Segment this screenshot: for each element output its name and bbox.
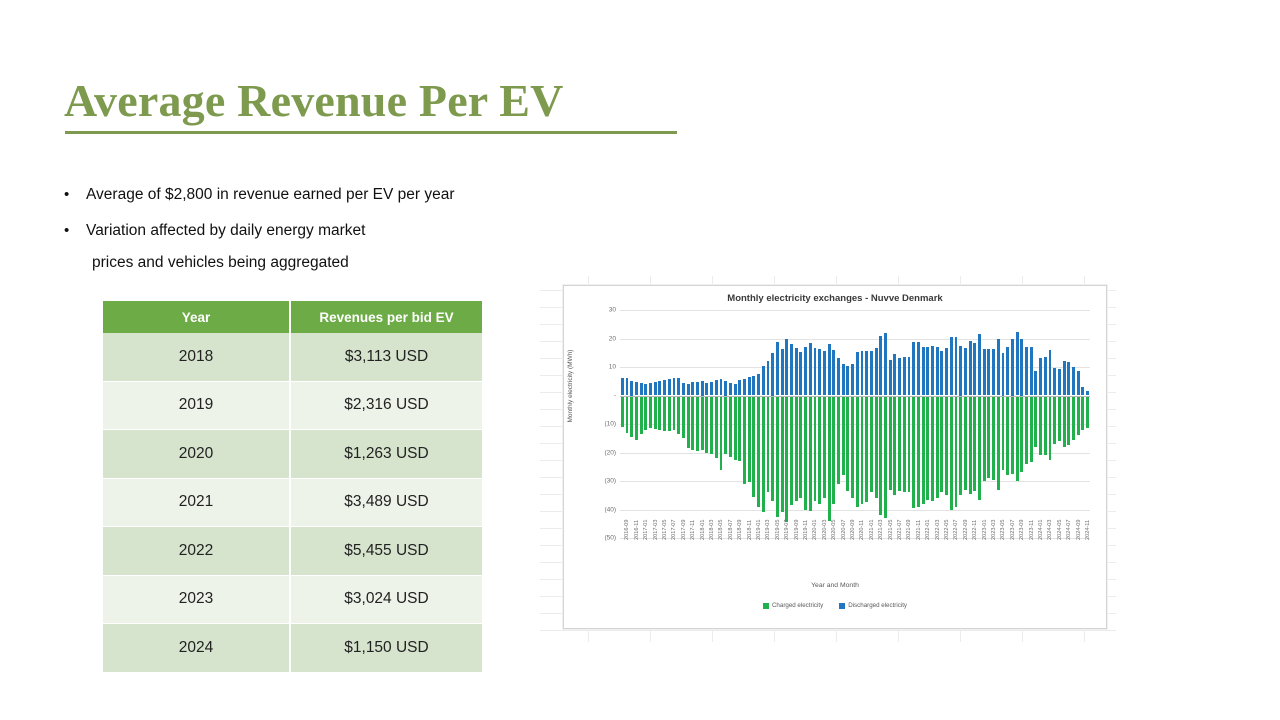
x-axis-tick-label: 2022-05: [944, 519, 950, 540]
bar-charged: [950, 396, 953, 510]
bar-charged: [729, 396, 732, 457]
bar-discharged: [785, 339, 788, 395]
legend-label: Charged electricity: [772, 602, 823, 609]
bar-charged: [861, 396, 864, 504]
bar-discharged: [1053, 368, 1056, 396]
x-axis-tick-label: 2020-03: [822, 519, 828, 540]
bar-charged: [696, 396, 699, 452]
x-axis-tick-label: 2023-07: [1010, 519, 1016, 540]
bar-discharged: [762, 366, 765, 395]
bar-discharged: [997, 339, 1000, 395]
chart-legend: Charged electricity Discharged electrici…: [564, 602, 1106, 609]
bar-discharged: [945, 348, 948, 395]
bar-charged: [926, 396, 929, 500]
bullet-dot-icon: •: [64, 220, 86, 242]
x-axis-tick-label: 2019-11: [803, 520, 809, 540]
x-axis-tick-label: 2023-01: [982, 519, 988, 540]
x-axis-tick-label: 2018-07: [728, 519, 734, 540]
bar-charged: [818, 396, 821, 504]
bar-charged: [917, 396, 920, 507]
bar-series-container: [620, 310, 1090, 538]
bar-charged: [959, 396, 962, 496]
bar-charged: [893, 396, 896, 496]
cell-revenue: $2,316 USD: [290, 381, 482, 430]
bar-discharged: [917, 342, 920, 396]
bar-charged: [978, 396, 981, 500]
bar-discharged: [950, 337, 953, 396]
table-row: 2024$1,150 USD: [103, 624, 482, 673]
bar-discharged: [1067, 362, 1070, 396]
bar-charged: [969, 396, 972, 494]
x-axis-tick-label: 2021-07: [897, 519, 903, 540]
x-axis-tick-label: 2018-11: [747, 520, 753, 540]
bar-charged: [908, 396, 911, 493]
bar-discharged: [922, 347, 925, 396]
bar-charged: [654, 396, 657, 430]
x-axis-tick-label: 2021-05: [888, 519, 894, 540]
bar-discharged: [828, 344, 831, 396]
bar-discharged: [814, 348, 817, 395]
plot-area: 302010-(10)(20)(30)(40)(50): [620, 310, 1090, 538]
bar-discharged: [691, 382, 694, 395]
x-axis-tick-label: 2019-03: [765, 519, 771, 540]
bar-charged: [1002, 396, 1005, 470]
bar-charged: [621, 396, 624, 427]
bar-charged: [846, 396, 849, 491]
bar-charged: [687, 396, 690, 449]
bar-charged: [856, 396, 859, 507]
x-axis-tick-label: 2020-07: [841, 519, 847, 540]
bar-charged: [1020, 396, 1023, 473]
bar-charged: [1053, 396, 1056, 444]
bar-charged: [992, 396, 995, 480]
bar-charged: [1016, 396, 1019, 482]
bar-discharged: [776, 342, 779, 396]
bullet-text: Variation affected by daily energy marke…: [86, 220, 365, 242]
x-axis-tick-label: 2017-01: [643, 519, 649, 540]
bar-charged: [973, 396, 976, 491]
bar-charged: [701, 396, 704, 450]
y-axis-tick-label: -: [614, 392, 616, 399]
bar-group: [1085, 310, 1090, 538]
bar-discharged: [926, 347, 929, 395]
x-axis-tick-label: 2024-09: [1076, 519, 1082, 540]
bar-discharged: [781, 349, 784, 396]
cell-year: 2023: [103, 575, 290, 624]
bar-charged: [931, 396, 934, 501]
x-axis-tick-label: 2019-07: [784, 519, 790, 540]
x-axis-tick-label: 2020-09: [850, 519, 856, 540]
x-axis-tick-label: 2024-03: [1047, 519, 1053, 540]
bar-charged: [1067, 396, 1070, 446]
bar-charged: [757, 396, 760, 507]
bar-charged: [767, 396, 770, 493]
grid-line: [540, 630, 1116, 631]
x-axis-tick-label: 2018-05: [718, 519, 724, 540]
bar-discharged: [964, 348, 967, 395]
bar-charged: [870, 396, 873, 493]
bar-discharged: [870, 351, 873, 395]
bar-discharged: [696, 382, 699, 395]
bar-discharged: [969, 341, 972, 395]
chart-title: Monthly electricity exchanges - Nuvve De…: [564, 293, 1106, 304]
x-axis-tick-label: 2022-01: [925, 519, 931, 540]
x-axis-tick-label: 2022-11: [972, 520, 978, 540]
x-axis-tick-label: 2021-03: [878, 519, 884, 540]
bar-charged: [1058, 396, 1061, 442]
x-axis-tick-label: 2021-09: [906, 519, 912, 540]
bar-charged: [809, 396, 812, 511]
cell-revenue: $3,113 USD: [290, 333, 482, 381]
bar-discharged: [978, 334, 981, 395]
bar-charged: [668, 396, 671, 432]
bar-discharged: [1063, 361, 1066, 396]
table-row: 2018$3,113 USD: [103, 333, 482, 381]
bar-discharged: [936, 347, 939, 395]
bar-discharged: [799, 352, 802, 395]
y-axis-tick-label: (30): [604, 478, 616, 485]
bar-discharged: [677, 378, 680, 395]
y-axis-tick-label: (50): [604, 535, 616, 542]
x-axis-tick-label: 2023-11: [1029, 520, 1035, 540]
bullet-text: Average of $2,800 in revenue earned per …: [86, 184, 455, 206]
bar-discharged: [1034, 371, 1037, 395]
x-axis-tick-label: 2019-05: [775, 519, 781, 540]
bullet-list: • Average of $2,800 in revenue earned pe…: [64, 184, 584, 288]
bar-discharged: [752, 376, 755, 396]
bar-discharged: [893, 354, 896, 396]
x-axis-tick-label: 2018-01: [700, 519, 706, 540]
bar-discharged: [790, 344, 793, 396]
bar-charged: [814, 396, 817, 501]
bar-discharged: [1030, 347, 1033, 395]
bar-charged: [785, 396, 788, 523]
bar-discharged: [649, 383, 652, 396]
bar-charged: [776, 396, 779, 517]
bar-charged: [955, 396, 958, 507]
cell-revenue: $1,263 USD: [290, 430, 482, 479]
cell-year: 2022: [103, 527, 290, 576]
bar-discharged: [851, 364, 854, 395]
table-row: 2021$3,489 USD: [103, 478, 482, 527]
bar-charged: [1086, 396, 1089, 429]
x-axis-tick-label: 2024-05: [1057, 519, 1063, 540]
bar-charged: [987, 396, 990, 479]
bar-charged: [1081, 396, 1084, 430]
bar-discharged: [682, 383, 685, 396]
x-axis-tick-label: 2016-09: [624, 519, 630, 540]
bar-discharged: [673, 378, 676, 396]
x-axis-title: Year and Month: [564, 582, 1106, 589]
bar-discharged: [931, 346, 934, 395]
bar-discharged: [715, 380, 718, 395]
bar-charged: [658, 396, 661, 430]
bar-discharged: [1044, 357, 1047, 395]
x-axis-tick-label: 2020-05: [831, 519, 837, 540]
cell-revenue: $5,455 USD: [290, 527, 482, 576]
bar-discharged: [1081, 387, 1084, 396]
legend-swatch-icon: [763, 603, 769, 609]
bar-charged: [983, 396, 986, 482]
bar-discharged: [757, 374, 760, 396]
bar-discharged: [630, 381, 633, 395]
bar-charged: [903, 396, 906, 493]
bar-discharged: [856, 352, 859, 395]
bar-charged: [1049, 396, 1052, 460]
y-axis-tick-label: (40): [604, 506, 616, 513]
bar-discharged: [640, 383, 643, 395]
bar-discharged: [842, 364, 845, 396]
bar-charged: [691, 396, 694, 450]
bar-charged: [640, 396, 643, 434]
x-axis-tick-label: 2022-03: [935, 519, 941, 540]
bar-charged: [1072, 396, 1075, 440]
bar-discharged: [1049, 350, 1052, 395]
bar-discharged: [1011, 339, 1014, 396]
cell-year: 2020: [103, 430, 290, 479]
bar-charged: [1025, 396, 1028, 464]
x-axis-tick-label: 2022-09: [963, 519, 969, 540]
bar-charged: [828, 396, 831, 521]
bar-discharged: [701, 381, 704, 395]
bar-charged: [837, 396, 840, 484]
bar-charged: [879, 396, 882, 516]
bar-discharged: [767, 361, 770, 395]
bar-discharged: [654, 382, 657, 396]
x-axis-tick-labels: 2016-092016-112017-012017-032017-052017-…: [620, 540, 1090, 588]
bar-discharged: [748, 377, 751, 395]
bar-discharged: [1006, 347, 1009, 395]
bar-charged: [663, 396, 666, 432]
x-axis-tick-label: 2018-09: [737, 519, 743, 540]
bar-charged: [851, 396, 854, 499]
bar-charged: [734, 396, 737, 460]
bar-charged: [677, 396, 680, 434]
list-item: • Variation affected by daily energy mar…: [64, 220, 584, 242]
bar-discharged: [865, 351, 868, 395]
bar-charged: [743, 396, 746, 484]
bar-discharged: [1016, 332, 1019, 396]
bullet-continuation-text: prices and vehicles being aggregated: [92, 252, 584, 274]
title-underline: [65, 131, 677, 134]
bar-charged: [790, 396, 793, 506]
bar-charged: [804, 396, 807, 510]
y-axis-tick-label: (10): [604, 421, 616, 428]
x-axis-tick-label: 2017-07: [671, 519, 677, 540]
bar-charged: [762, 396, 765, 513]
y-axis-tick-label: (20): [604, 449, 616, 456]
legend-swatch-icon: [839, 603, 845, 609]
cell-revenue: $3,024 USD: [290, 575, 482, 624]
bar-charged: [635, 396, 638, 440]
column-header-year: Year: [103, 301, 290, 333]
table-row: 2019$2,316 USD: [103, 381, 482, 430]
x-axis-tick-label: 2024-01: [1038, 519, 1044, 540]
bar-discharged: [879, 336, 882, 396]
y-axis-tick-label: 10: [609, 364, 616, 371]
table-body: 2018$3,113 USD2019$2,316 USD2020$1,263 U…: [103, 333, 482, 672]
bar-discharged: [846, 366, 849, 396]
bar-discharged: [663, 380, 666, 395]
bar-charged: [795, 396, 798, 501]
bar-charged: [1044, 396, 1047, 456]
bar-charged: [884, 396, 887, 519]
legend-item-discharged: Discharged electricity: [839, 602, 907, 609]
bar-discharged: [1025, 347, 1028, 395]
bar-discharged: [912, 342, 915, 395]
column-header-revenue: Revenues per bid EV: [290, 301, 482, 333]
cell-revenue: $3,489 USD: [290, 478, 482, 527]
bar-discharged: [809, 343, 812, 395]
bar-charged: [682, 396, 685, 439]
x-axis-tick-label: 2019-09: [794, 519, 800, 540]
x-axis-tick-label: 2024-07: [1066, 519, 1072, 540]
bar-discharged: [818, 349, 821, 395]
y-axis-title: Monthly electricity (MWh): [567, 326, 574, 446]
bar-charged: [781, 396, 784, 513]
x-axis-tick-label: 2021-11: [916, 520, 922, 540]
bar-charged: [1030, 396, 1033, 463]
x-axis-tick-label: 2017-11: [690, 520, 696, 540]
x-axis-tick-label: 2021-01: [869, 519, 875, 540]
bar-charged: [630, 396, 633, 437]
bar-discharged: [1002, 353, 1005, 396]
bar-discharged: [771, 353, 774, 396]
cell-year: 2018: [103, 333, 290, 381]
bar-discharged: [992, 349, 995, 395]
bar-charged: [1034, 396, 1037, 447]
bar-discharged: [644, 384, 647, 396]
y-axis-tick-label: 30: [609, 307, 616, 314]
x-axis-tick-label: 2017-09: [681, 519, 687, 540]
bar-charged: [799, 396, 802, 499]
bar-charged: [752, 396, 755, 497]
bar-charged: [738, 396, 741, 462]
cell-revenue: $1,150 USD: [290, 624, 482, 673]
bar-discharged: [668, 379, 671, 396]
revenue-table: Year Revenues per bid EV 2018$3,113 USD2…: [103, 301, 482, 673]
list-item: • Average of $2,800 in revenue earned pe…: [64, 184, 584, 206]
bar-discharged: [955, 337, 958, 395]
bar-charged: [889, 396, 892, 490]
bar-discharged: [738, 380, 741, 395]
x-axis-tick-label: 2020-11: [859, 520, 865, 540]
bar-charged: [842, 396, 845, 476]
bar-charged: [922, 396, 925, 504]
legend-label: Discharged electricity: [848, 602, 907, 609]
bar-charged: [1077, 396, 1080, 436]
bar-discharged: [658, 381, 661, 396]
x-axis-tick-label: 2023-09: [1019, 519, 1025, 540]
bar-discharged: [1072, 367, 1075, 396]
bar-discharged: [940, 351, 943, 395]
bar-discharged: [908, 357, 911, 396]
bar-charged: [626, 396, 629, 433]
bar-discharged: [861, 351, 864, 395]
bar-charged: [997, 396, 1000, 490]
bar-charged: [912, 396, 915, 509]
bar-discharged: [743, 379, 746, 396]
zero-axis-line: [620, 396, 1090, 397]
y-axis-tick-label: 20: [609, 335, 616, 342]
bar-discharged: [724, 381, 727, 395]
bar-charged: [724, 396, 727, 454]
legend-item-charged: Charged electricity: [763, 602, 823, 609]
cell-year: 2021: [103, 478, 290, 527]
x-axis-tick-label: 2018-03: [709, 519, 715, 540]
bar-charged: [964, 396, 967, 490]
x-axis-tick-label: 2019-01: [756, 519, 762, 540]
bar-charged: [823, 396, 826, 499]
bar-charged: [710, 396, 713, 454]
bar-discharged: [1020, 339, 1023, 396]
bar-discharged: [973, 343, 976, 395]
bar-discharged: [804, 347, 807, 395]
x-axis-tick-label: 2017-05: [662, 519, 668, 540]
bar-discharged: [734, 384, 737, 396]
bar-charged: [649, 396, 652, 429]
bar-discharged: [635, 382, 638, 396]
bar-discharged: [1077, 371, 1080, 396]
bar-discharged: [983, 349, 986, 395]
bar-charged: [832, 396, 835, 504]
x-axis-tick-label: 2023-05: [1000, 519, 1006, 540]
table-row: 2023$3,024 USD: [103, 575, 482, 624]
bar-charged: [936, 396, 939, 499]
bar-discharged: [1058, 369, 1061, 395]
bar-charged: [865, 396, 868, 503]
bar-charged: [771, 396, 774, 501]
x-axis-tick-label: 2023-03: [991, 519, 997, 540]
bar-discharged: [720, 379, 723, 396]
x-axis-tick-label: 2024-11: [1085, 520, 1091, 540]
chart-panel[interactable]: Monthly electricity exchanges - Nuvve De…: [563, 285, 1107, 629]
bar-discharged: [875, 348, 878, 395]
table-row: 2022$5,455 USD: [103, 527, 482, 576]
table-header-row: Year Revenues per bid EV: [103, 301, 482, 333]
bar-discharged: [903, 357, 906, 395]
x-axis-tick-label: 2017-03: [653, 519, 659, 540]
x-axis-tick-label: 2020-01: [812, 519, 818, 540]
table-row: 2020$1,263 USD: [103, 430, 482, 479]
bar-charged: [898, 396, 901, 491]
bar-discharged: [889, 360, 892, 396]
bar-discharged: [959, 346, 962, 396]
bar-charged: [875, 396, 878, 499]
bar-discharged: [987, 349, 990, 395]
bar-discharged: [832, 350, 835, 395]
bar-charged: [1011, 396, 1014, 474]
bar-discharged: [823, 351, 826, 395]
bar-discharged: [884, 333, 887, 396]
bar-discharged: [621, 378, 624, 396]
bar-discharged: [1039, 358, 1042, 395]
bar-charged: [715, 396, 718, 459]
bar-charged: [748, 396, 751, 483]
bar-charged: [945, 396, 948, 496]
bar-discharged: [710, 382, 713, 396]
x-axis-tick-label: 2022-07: [953, 519, 959, 540]
bar-charged: [1006, 396, 1009, 476]
bar-discharged: [687, 384, 690, 396]
cell-year: 2024: [103, 624, 290, 673]
bar-charged: [705, 396, 708, 453]
page-title: Average Revenue Per EV: [64, 78, 824, 124]
x-axis-tick-label: 2016-11: [634, 520, 640, 540]
bar-charged: [720, 396, 723, 470]
cell-year: 2019: [103, 381, 290, 430]
bar-discharged: [626, 378, 629, 395]
